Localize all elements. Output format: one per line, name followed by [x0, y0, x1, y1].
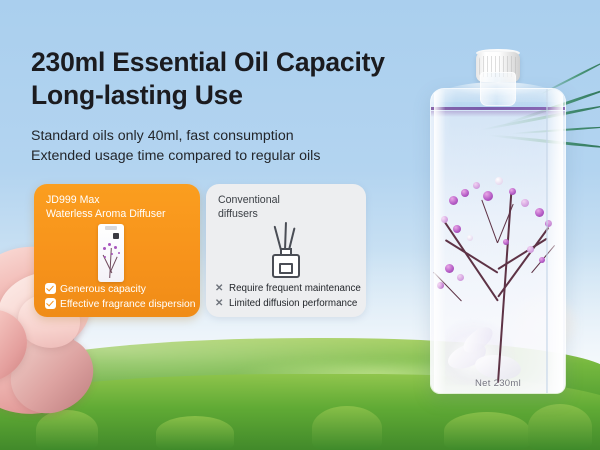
- x-icon: ✕: [215, 298, 225, 309]
- conventional-card-title: Conventional diffusers: [218, 193, 358, 222]
- conventional-comparison-card: Conventional diffusers ✕Require frequent…: [206, 184, 366, 317]
- check-icon: [45, 283, 56, 294]
- x-icon: ✕: [215, 283, 225, 294]
- conventional-card-title-line-1: Conventional: [218, 193, 358, 207]
- product-card-title: JD999 Max Waterless Aroma Diffuser: [46, 193, 192, 222]
- mini-diffuser-bottle-icon: [98, 224, 124, 282]
- product-bottle: Net 230ml: [424, 52, 572, 400]
- product-card-title-line-1: JD999 Max: [46, 193, 192, 207]
- subheadline-line-1: Standard oils only 40ml, fast consumptio…: [31, 126, 421, 146]
- page-title: 230ml Essential Oil Capacity Long-lastin…: [31, 46, 411, 113]
- benefit-item-2: Effective fragrance dispersion: [45, 298, 195, 310]
- bottle-highlight-left: [434, 89, 445, 393]
- drawback-label-2: Limited diffusion performance: [229, 298, 357, 309]
- benefit-label-2: Effective fragrance dispersion: [60, 299, 195, 310]
- product-comparison-card: JD999 Max Waterless Aroma Diffuser Gener…: [34, 184, 200, 317]
- drawback-label-1: Require frequent maintenance: [229, 283, 361, 294]
- net-volume-label: Net 230ml: [424, 378, 572, 389]
- conventional-card-title-line-2: diffusers: [218, 207, 358, 221]
- headline-line-1: 230ml Essential Oil Capacity: [31, 46, 411, 79]
- check-icon: [45, 298, 56, 309]
- benefit-item-1: Generous capacity: [45, 283, 146, 295]
- bottle-shoulder-highlight: [430, 82, 566, 102]
- drawback-item-2: ✕Limited diffusion performance: [215, 298, 357, 309]
- page-subtitle: Standard oils only 40ml, fast consumptio…: [31, 126, 421, 167]
- drawback-item-1: ✕Require frequent maintenance: [215, 283, 361, 294]
- bottle-body: [430, 88, 566, 394]
- headline-line-2: Long-lasting Use: [31, 79, 411, 112]
- reed-diffuser-icon: [268, 224, 304, 278]
- benefit-label-1: Generous capacity: [60, 284, 146, 295]
- liquid-level-glow: [431, 111, 565, 117]
- subheadline-line-2: Extended usage time compared to regular …: [31, 146, 421, 166]
- product-card-title-line-2: Waterless Aroma Diffuser: [46, 207, 192, 221]
- bottle-highlight-right: [546, 89, 563, 393]
- promo-image-canvas: Net 230ml 230ml Essential Oil Capacity L…: [0, 0, 600, 450]
- liquid-level-line: [431, 107, 565, 110]
